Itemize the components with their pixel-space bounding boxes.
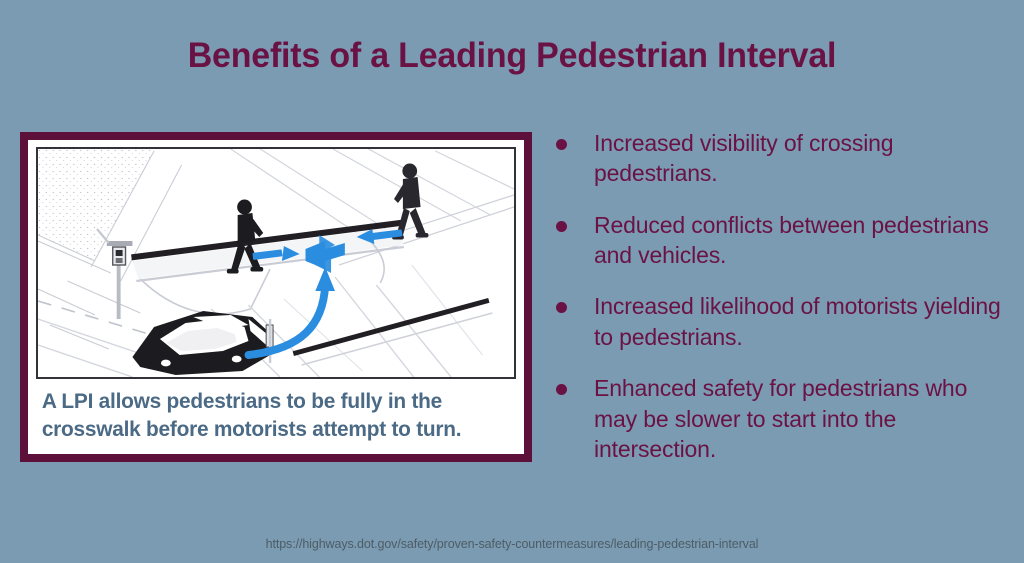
list-item: Enhanced safety for pedestrians who may …	[552, 373, 1008, 464]
list-item: Increased likelihood of motorists yieldi…	[552, 291, 1008, 352]
figure-panel: A LPI allows pedestrians to be fully in …	[28, 140, 524, 454]
list-item-label: Increased visibility of crossing pedestr…	[594, 128, 1008, 189]
source-url[interactable]: https://highways.dot.gov/safety/proven-s…	[0, 537, 1024, 551]
list-item-label: Increased likelihood of motorists yieldi…	[594, 291, 1008, 352]
figure-frame: A LPI allows pedestrians to be fully in …	[20, 132, 532, 462]
list-item-label: Enhanced safety for pedestrians who may …	[594, 373, 1008, 464]
page-title: Benefits of a Leading Pedestrian Interva…	[15, 36, 1008, 76]
bullet-dot-icon	[556, 221, 567, 232]
list-item: Reduced conflicts between pedestrians an…	[552, 210, 1008, 271]
intersection-illustration	[36, 147, 516, 379]
bullet-dot-icon	[556, 302, 567, 313]
list-item: Increased visibility of crossing pedestr…	[552, 128, 1008, 189]
list-item-label: Reduced conflicts between pedestrians an…	[594, 210, 1008, 271]
figure-caption: A LPI allows pedestrians to be fully in …	[36, 379, 502, 448]
bullet-dot-icon	[556, 139, 567, 150]
benefits-list: Increased visibility of crossing pedestr…	[552, 128, 1008, 464]
bullet-dot-icon	[556, 384, 567, 395]
